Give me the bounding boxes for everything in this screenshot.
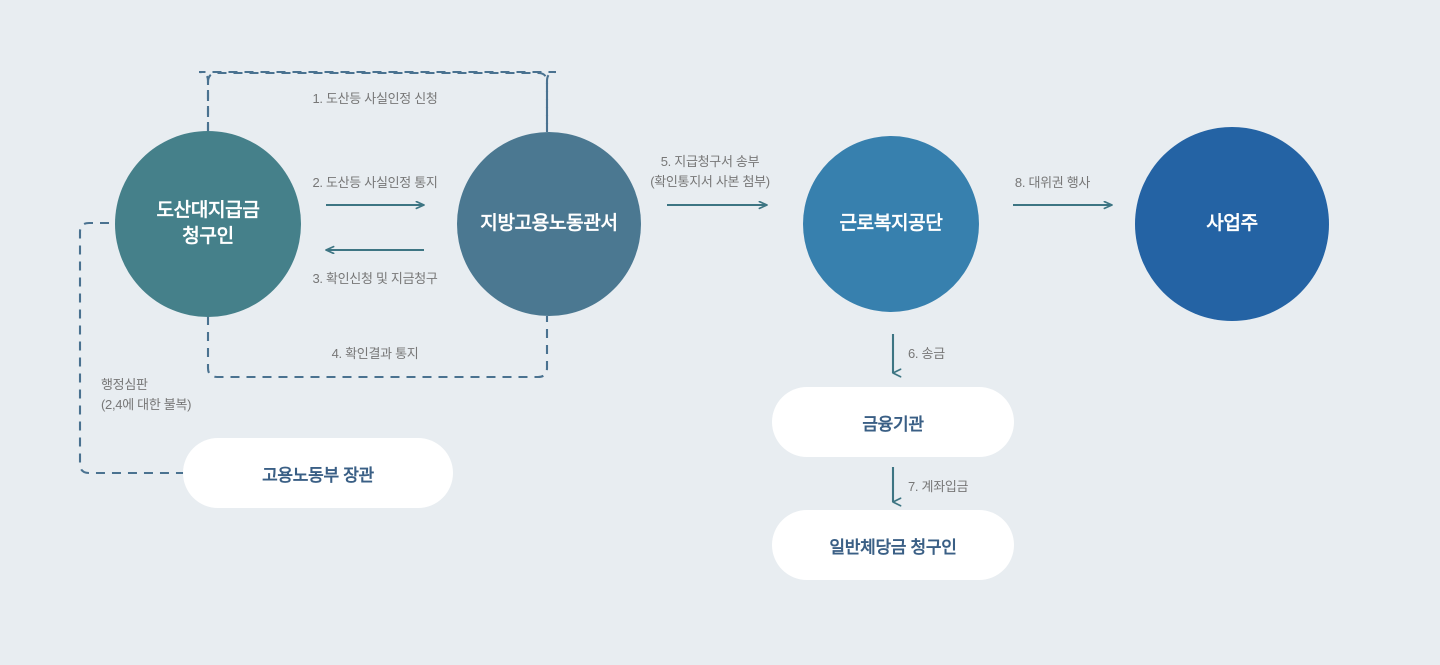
- edge-label-step-1: 1. 도산등 사실인정 신청: [245, 89, 505, 109]
- edge-label-step-5: 5. 지급청구서 송부 (확인통지서 사본 첨부): [590, 152, 830, 191]
- edge-label-step-3: 3. 확인신청 및 지금청구: [245, 269, 505, 289]
- edge-label-step-4: 4. 확인결과 통지: [245, 344, 505, 364]
- node-label: 일반체당금 청구인: [829, 533, 956, 558]
- node-label: 금융기관: [862, 410, 923, 435]
- node-label: 도산대지급금 청구인: [156, 198, 259, 250]
- node-labor-minister[interactable]: 고용노동부 장관: [183, 438, 453, 508]
- edge-label-step-2: 2. 도산등 사실인정 통지: [245, 173, 505, 193]
- node-claimant-general[interactable]: 일반체당금 청구인: [772, 510, 1014, 580]
- node-label: 고용노동부 장관: [262, 461, 374, 486]
- node-financial-institution[interactable]: 금융기관: [772, 387, 1014, 457]
- node-employer[interactable]: 사업주: [1135, 127, 1329, 321]
- node-label: 사업주: [1206, 211, 1258, 237]
- edge-label-step-6: 6. 송금: [908, 344, 1028, 364]
- connector-layer: [0, 0, 1440, 665]
- edge-label-step-7: 7. 계좌입금: [908, 477, 1028, 497]
- edge-label-appeal: 행정심판 (2,4에 대한 불복): [101, 375, 281, 414]
- edge-label-step-8: 8. 대위권 행사: [955, 173, 1150, 193]
- diagram-canvas: 도산대지급금 청구인 지방고용노동관서 근로복지공단 사업주 고용노동부 장관 …: [0, 0, 1440, 665]
- node-claimant-bankruptcy[interactable]: 도산대지급금 청구인: [115, 131, 301, 317]
- node-label: 근로복지공단: [839, 211, 942, 237]
- node-label: 지방고용노동관서: [480, 211, 617, 237]
